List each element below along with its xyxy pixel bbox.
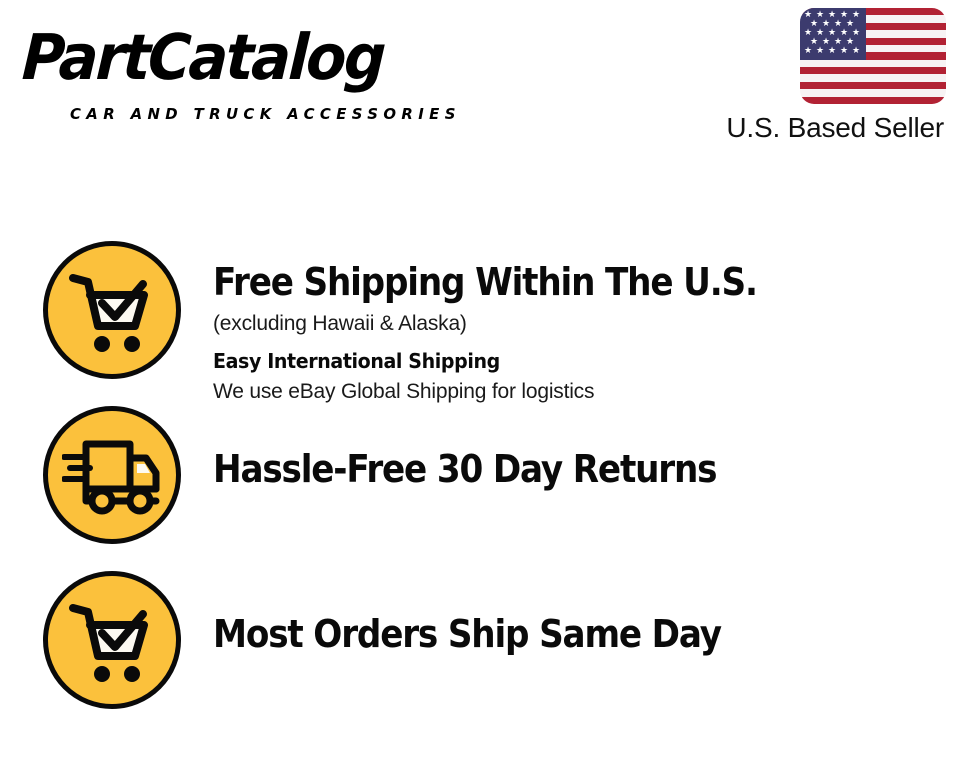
banner-header: PartCatalog CAR AND TRUCK ACCESSORIES ★ …: [0, 0, 960, 190]
flag-canton: ★ ★ ★ ★ ★ ★ ★ ★ ★ ★ ★ ★ ★ ★ ★ ★ ★ ★ ★ ★: [800, 8, 866, 60]
feature-title: Free Shipping Within The U.S.: [213, 259, 879, 305]
feature-text-block: Most Orders Ship Same Day: [213, 611, 953, 657]
feature-subtitle: (excluding Hawaii & Alaska): [213, 309, 953, 339]
feature-text-block: Free Shipping Within The U.S. (excluding…: [213, 259, 953, 406]
feature-title: Most Orders Ship Same Day: [213, 611, 879, 657]
feature-row: Free Shipping Within The U.S. (excluding…: [0, 241, 960, 379]
brand-tagline: CAR AND TRUCK ACCESSORIES: [70, 105, 461, 123]
feature-row: Hassle-Free 30 Day Returns: [0, 406, 960, 544]
brand-logo: PartCatalog CAR AND TRUCK ACCESSORIES: [24, 22, 494, 112]
us-based-seller-badge: ★ ★ ★ ★ ★ ★ ★ ★ ★ ★ ★ ★ ★ ★ ★ ★ ★ ★ ★ ★: [686, 8, 946, 153]
feature-subtitle-bold: Easy International Shipping: [213, 346, 916, 376]
feature-text-block: Hassle-Free 30 Day Returns: [213, 446, 953, 492]
feature-title: Hassle-Free 30 Day Returns: [213, 446, 879, 492]
shopping-cart-check-icon: [43, 571, 181, 709]
brand-wordmark: PartCatalog: [20, 22, 385, 94]
us-flag-icon: ★ ★ ★ ★ ★ ★ ★ ★ ★ ★ ★ ★ ★ ★ ★ ★ ★ ★ ★ ★: [800, 8, 946, 104]
feature-subtitle-secondary: We use eBay Global Shipping for logistic…: [213, 377, 953, 406]
shopping-cart-check-icon: [43, 241, 181, 379]
us-based-seller-label: U.S. Based Seller: [726, 112, 944, 144]
feature-row: Most Orders Ship Same Day: [0, 571, 960, 709]
delivery-truck-icon: [43, 406, 181, 544]
